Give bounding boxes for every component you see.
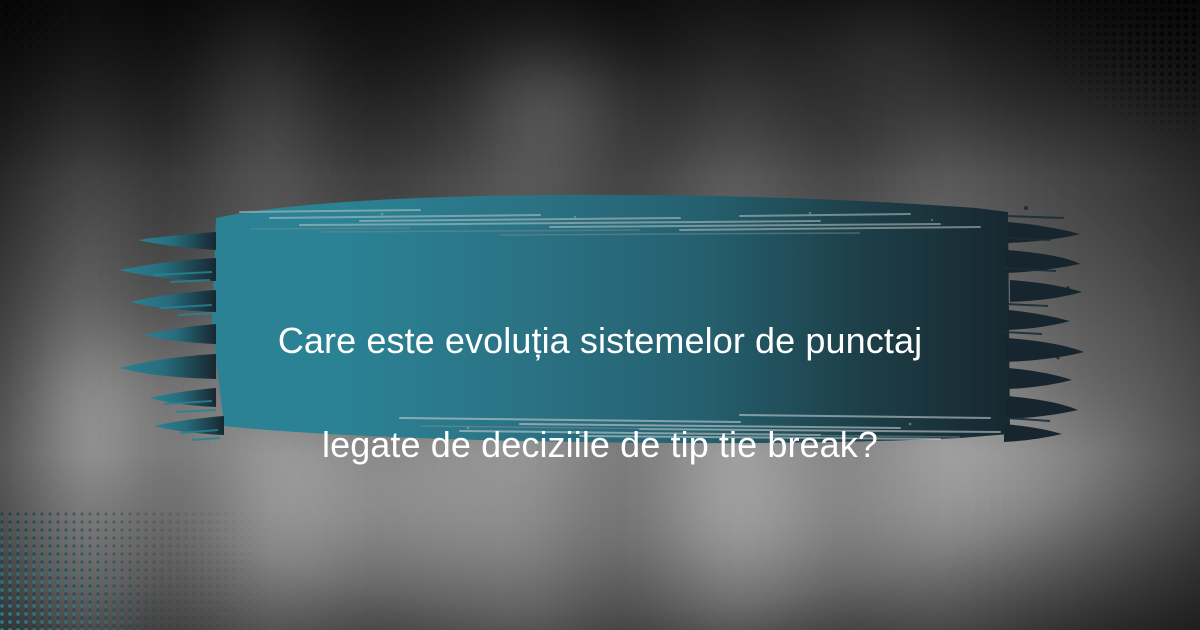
headline-line-2: legate de deciziile de tip tie break? [0,419,1200,471]
headline-line-1: Care este evoluția sistemelor de punctaj [0,315,1200,367]
share-card: Care este evoluția sistemelor de punctaj… [0,0,1200,630]
page-title: Care este evoluția sistemelor de punctaj… [0,263,1200,523]
